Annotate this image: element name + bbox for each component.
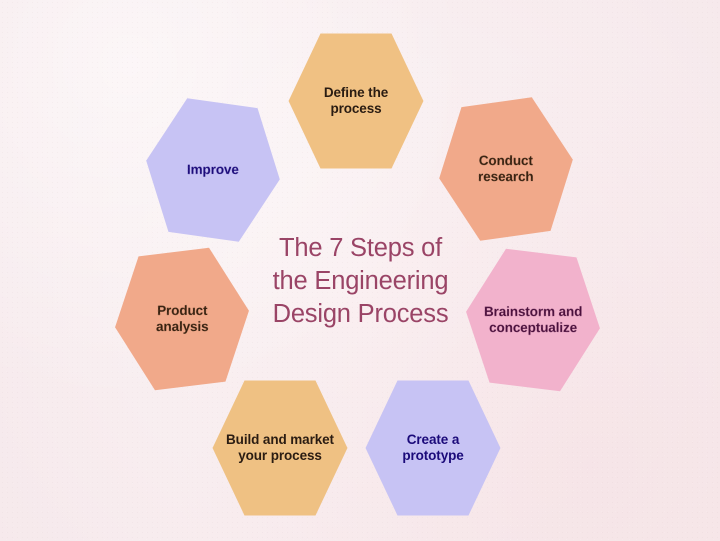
hexagon-step-label: Conduct research	[468, 153, 544, 186]
hexagon-step-label: Create a prototype	[392, 432, 473, 465]
infographic-canvas: Define the processConduct researchBrains…	[0, 0, 720, 541]
hexagon-step-label: Define the process	[314, 85, 398, 118]
hexagon-step-4[interactable]: Create a prototype	[362, 377, 504, 519]
hexagon-step-2[interactable]: Conduct research	[426, 89, 586, 249]
hexagon-step-label: Improve	[177, 162, 249, 178]
hexagon-step-label: Build and market your process	[216, 432, 344, 465]
hexagon-step-label: Product analysis	[146, 303, 219, 336]
hexagon-step-1[interactable]: Define the process	[285, 30, 427, 172]
hexagon-step-5[interactable]: Build and market your process	[209, 377, 351, 519]
hexagon-step-6[interactable]: Product analysis	[103, 240, 261, 398]
diagram-title: The 7 Steps of the Engineering Design Pr…	[243, 232, 478, 331]
hexagon-step-7[interactable]: Improve	[133, 90, 293, 250]
hexagon-step-label: Brainstorm and conceptualize	[474, 304, 592, 337]
